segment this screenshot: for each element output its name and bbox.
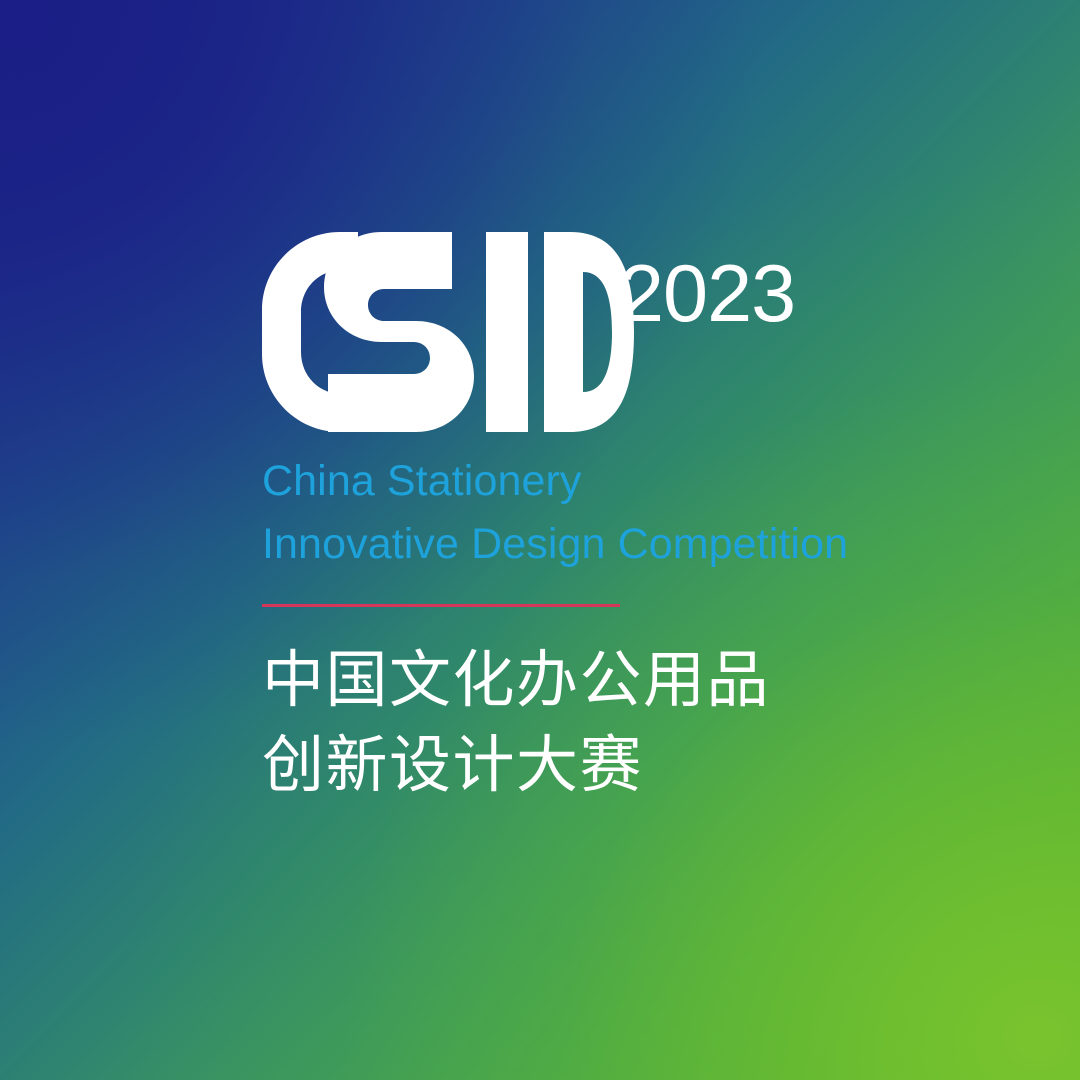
- divider-rule: [262, 604, 620, 607]
- csid-wordmark-logo: [262, 232, 634, 432]
- english-title-line-1: China Stationery: [262, 450, 962, 513]
- logo-letter-s: [324, 232, 474, 432]
- chinese-title-line-1: 中国文化办公用品: [262, 638, 962, 723]
- chinese-title-line-2: 创新设计大赛: [262, 723, 962, 808]
- logo-letter-i: [486, 232, 528, 432]
- english-title: China Stationery Innovative Design Compe…: [262, 450, 962, 576]
- poster-canvas: 2023 China Stationery Innovative Design …: [0, 0, 1080, 1080]
- chinese-title: 中国文化办公用品 创新设计大赛: [262, 638, 962, 808]
- logo-year: 2023: [619, 254, 795, 335]
- poster-content: 2023 China Stationery Innovative Design …: [262, 232, 962, 808]
- logo-lockup: 2023: [262, 232, 962, 432]
- english-title-line-2: Innovative Design Competition: [262, 513, 962, 576]
